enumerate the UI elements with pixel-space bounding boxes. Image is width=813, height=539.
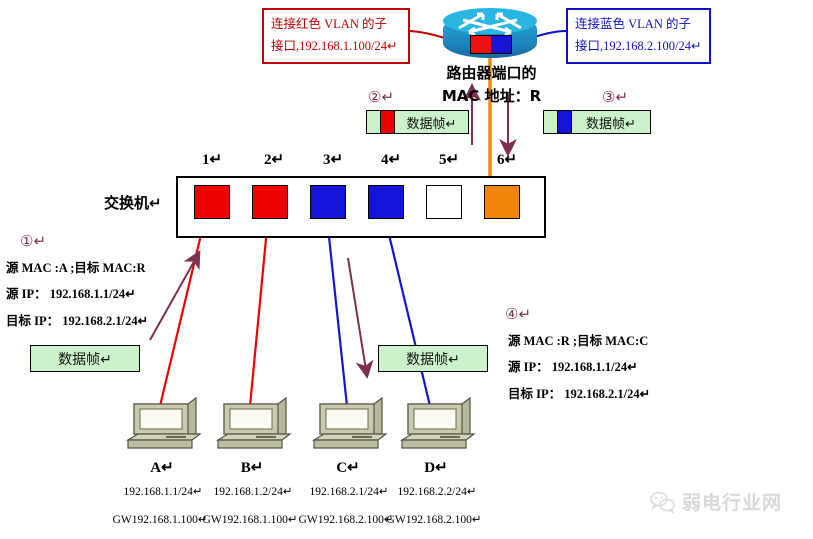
router-port-red-icon	[471, 36, 491, 53]
switch-port-num-4: 4↵	[373, 150, 409, 169]
frame-1-plain: 数据帧↵	[30, 345, 140, 372]
cable-port3-to-hostC	[327, 218, 347, 406]
host-gateway-B: GW192.168.1.100↵	[195, 512, 305, 526]
router-mac-label: 路由器端口的 MAC 地址：R	[404, 62, 579, 107]
switch-port-num-2: 2↵	[256, 150, 292, 169]
annotation-1-line-3: 目标 IP： 192.168.2.1/24↵	[6, 310, 148, 329]
callout-blue-line2: 接口,192.168.2.100/24↵	[575, 36, 702, 58]
wechat-icon	[650, 491, 676, 513]
switch-port-num-5: 5↵	[431, 150, 467, 169]
switch-port-4[interactable]	[368, 185, 404, 219]
router-port-pair	[470, 35, 512, 54]
callout-red-line1: 连接红色 VLAN 的子	[271, 14, 401, 36]
callout-red-line2: 接口,192.168.1.100/24↵	[271, 36, 401, 58]
host-icon-C[interactable]	[312, 396, 390, 458]
annotation-4-line-3: 目标 IP： 192.168.2.1/24↵	[508, 383, 650, 402]
callout-blue-line1: 连接蓝色 VLAN 的子	[575, 14, 702, 36]
watermark-text: 弱电行业网	[682, 488, 782, 515]
switch-port-1[interactable]	[194, 185, 230, 219]
frame-2-tagged-red: 数据帧↵	[366, 110, 469, 134]
frame-2-pad	[367, 111, 380, 133]
router-port-blue-icon	[491, 36, 511, 53]
host-name-A: A↵	[122, 458, 202, 477]
frame-2-label: 数据帧↵	[395, 113, 468, 132]
switch-label: 交换机↵	[104, 192, 162, 213]
host-icon-A[interactable]	[126, 396, 204, 458]
diagram-canvas: 连接红色 VLAN 的子 接口,192.168.1.100/24↵ 连接蓝色 V…	[0, 0, 813, 539]
switch-port-6[interactable]	[484, 185, 520, 219]
switch-port-num-3: 3↵	[315, 150, 351, 169]
host-icon-D[interactable]	[400, 396, 478, 458]
frame-3-label: 数据帧↵	[572, 113, 650, 132]
host-ip-D: 192.168.2.2/24↵	[382, 484, 492, 498]
switch-port-2[interactable]	[252, 185, 288, 219]
annotation-1-line-2: 源 IP： 192.168.1.1/24↵	[6, 283, 136, 302]
switch-port-num-6: 6↵	[489, 150, 525, 169]
switch-port-5[interactable]	[426, 185, 462, 219]
host-name-B: B↵	[212, 458, 292, 477]
annotation-4-line-1: 源 MAC :R ;目标 MAC:C	[508, 330, 648, 349]
frame-3-pad	[544, 111, 557, 133]
callout-blue-subinterface: 连接蓝色 VLAN 的子 接口,192.168.2.100/24↵	[566, 8, 711, 64]
host-name-D: D↵	[396, 458, 476, 477]
frame-3-vlan-tag-blue-icon	[557, 111, 572, 133]
host-ip-B: 192.168.1.2/24↵	[198, 484, 308, 498]
watermark: 弱电行业网	[650, 488, 782, 515]
frame-2-vlan-tag-red-icon	[380, 111, 395, 133]
host-gateway-D: GW192.168.2.100↵	[379, 512, 489, 526]
frame-4-plain: 数据帧↵	[378, 345, 488, 372]
host-name-C: C↵	[308, 458, 388, 477]
cable-port4-to-hostD	[385, 218, 430, 406]
switch-port-3[interactable]	[310, 185, 346, 219]
callout-red-subinterface: 连接红色 VLAN 的子 接口,192.168.1.100/24↵	[262, 8, 410, 64]
router-mac-line2: MAC 地址：R	[404, 85, 579, 108]
host-icon-B[interactable]	[216, 396, 294, 458]
frame-2-marker: ②↵	[368, 88, 394, 107]
router-icon[interactable]	[443, 8, 537, 58]
router-mac-line1: 路由器端口的	[404, 62, 579, 85]
flow-arrow-annotation-1	[150, 258, 196, 340]
annotation-1-line-1: 源 MAC :A ;目标 MAC:R	[6, 257, 146, 276]
annotation-1-marker: ①↵	[20, 232, 46, 251]
annotation-4-marker: ④↵	[505, 305, 531, 324]
switch-port-num-1: 1↵	[194, 150, 230, 169]
frame-3-marker: ③↵	[602, 88, 628, 107]
flow-arrow-annotation-4	[348, 258, 366, 370]
annotation-4-line-2: 源 IP： 192.168.1.1/24↵	[508, 356, 638, 375]
frame-3-tagged-blue: 数据帧↵	[543, 110, 651, 134]
cable-port2-to-hostB	[250, 218, 268, 406]
